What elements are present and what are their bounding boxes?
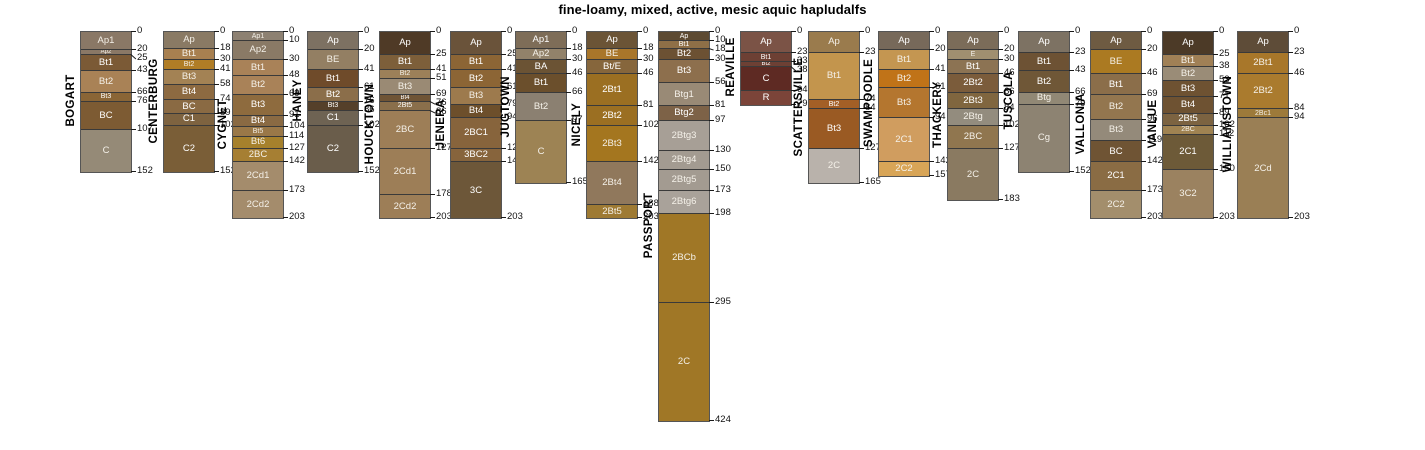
depth-tick bbox=[1288, 108, 1293, 109]
profile-name-williamstown: WILLIAMSTOWN bbox=[1221, 31, 1235, 217]
horizon-label: Ap1 bbox=[252, 33, 264, 40]
profile-name-houcktown: HOUCKTOWN bbox=[363, 31, 377, 217]
horizon-label: Bt2 bbox=[534, 102, 548, 112]
depth-tick bbox=[283, 161, 288, 162]
horizon-label: Ap bbox=[680, 33, 689, 40]
horizon-label: Ap bbox=[760, 37, 772, 47]
depth-tick bbox=[131, 70, 136, 71]
soil-profile-column[interactable]: ApBt1Bt2Bt3Bt42BC13BC23C bbox=[450, 31, 502, 219]
depth-label: 46 bbox=[1294, 68, 1305, 78]
depth-label: 203 bbox=[507, 212, 523, 222]
horizon[interactable]: Ap1 bbox=[516, 32, 566, 49]
horizon[interactable]: C bbox=[516, 121, 566, 183]
depth-tick bbox=[1288, 217, 1293, 218]
depth-tick bbox=[709, 420, 714, 421]
horizon-label: Bt2 bbox=[251, 80, 265, 90]
horizon-label: Bt4 bbox=[400, 95, 409, 101]
soil-profile-plot: BOGARTAp1Ap2Bt1Bt2Bt3BCC0202543667610715… bbox=[0, 0, 1425, 450]
horizon-label: 2BC bbox=[249, 150, 267, 160]
horizon[interactable]: Bt2 bbox=[451, 70, 501, 88]
horizon-label: 2C bbox=[678, 357, 690, 367]
horizon-label: Bt3 bbox=[101, 93, 112, 100]
horizon[interactable]: Bt1 bbox=[451, 55, 501, 70]
profile-name-thackery: THACKERY bbox=[931, 31, 945, 199]
depth-label: 43 bbox=[137, 65, 148, 75]
horizon-label: Ap bbox=[967, 36, 979, 46]
horizon-label: Bt4 bbox=[251, 116, 265, 126]
horizon-label: C1 bbox=[183, 114, 195, 124]
horizon[interactable]: BC bbox=[81, 102, 131, 130]
horizon[interactable]: Bt4 bbox=[233, 116, 283, 128]
horizon[interactable]: Bt3 bbox=[451, 88, 501, 105]
horizon-label: Bt3 bbox=[1109, 125, 1123, 135]
depth-label: 295 bbox=[715, 297, 731, 307]
horizon[interactable]: BE bbox=[587, 49, 637, 60]
depth-tick bbox=[1213, 54, 1218, 55]
horizon-label: 2Btg6 bbox=[672, 197, 697, 207]
horizon[interactable]: Bt1 bbox=[1019, 53, 1069, 71]
horizon[interactable]: C2 bbox=[308, 126, 358, 172]
horizon[interactable]: Ap1 bbox=[81, 32, 131, 50]
horizon[interactable]: BC bbox=[1091, 141, 1141, 162]
horizon[interactable]: Bt1 bbox=[948, 60, 998, 75]
horizon[interactable]: Ap bbox=[948, 32, 998, 50]
depth-tick bbox=[283, 75, 288, 76]
horizon[interactable]: Bt1 bbox=[879, 50, 929, 69]
horizon-label: 2Cd2 bbox=[247, 200, 270, 210]
horizon[interactable]: Bt2 bbox=[659, 49, 709, 60]
depth-label: 130 bbox=[715, 145, 731, 155]
soil-profile-column[interactable]: ApBt1Bt2Bt3Bt42Bt52BC2C13C2 bbox=[1162, 31, 1214, 219]
horizon-label: Bt1 bbox=[326, 74, 340, 84]
horizon[interactable]: 2Bt2 bbox=[1238, 74, 1288, 109]
horizon[interactable]: 2Cd2 bbox=[380, 195, 430, 218]
depth-label: 198 bbox=[715, 208, 731, 218]
horizon[interactable]: 2BC bbox=[380, 111, 430, 149]
horizon[interactable]: 2BCb bbox=[659, 214, 709, 303]
horizon-label: Bt3 bbox=[827, 124, 841, 134]
depth-tick bbox=[1288, 73, 1293, 74]
horizon[interactable]: 2Btg4 bbox=[659, 151, 709, 169]
horizon-label: Bt1 bbox=[398, 57, 412, 67]
depth-tick bbox=[131, 101, 136, 102]
profile-name-tuscola: TUSCOLA bbox=[1002, 31, 1016, 171]
horizon[interactable]: Ap bbox=[1238, 32, 1288, 53]
horizon-label: R bbox=[763, 93, 770, 103]
depth-tick bbox=[709, 105, 714, 106]
horizon[interactable]: Ap bbox=[380, 32, 430, 55]
horizon[interactable]: E bbox=[948, 50, 998, 59]
horizon-label: Bt2 bbox=[1037, 77, 1051, 87]
horizon[interactable]: 2Bt1 bbox=[1238, 53, 1288, 74]
horizon[interactable]: Bt/E bbox=[587, 60, 637, 75]
depth-tick bbox=[709, 190, 714, 191]
horizon-label: E bbox=[971, 51, 976, 58]
horizon[interactable]: Bt5 bbox=[233, 127, 283, 136]
depth-tick bbox=[709, 120, 714, 121]
horizon[interactable]: 2Bc1 bbox=[1238, 109, 1288, 118]
depth-tick bbox=[283, 190, 288, 191]
horizon[interactable]: Ap2 bbox=[233, 41, 283, 59]
depth-label: 97 bbox=[715, 115, 726, 125]
soil-profile-column[interactable]: ApBEBt/E2Bt12Bt22Bt32Bt42Bt5 bbox=[586, 31, 638, 219]
horizon[interactable]: 2C bbox=[659, 303, 709, 421]
horizon[interactable]: Bt3 bbox=[380, 79, 430, 96]
depth-tick bbox=[283, 115, 288, 116]
horizon[interactable]: 2Cd bbox=[1238, 118, 1288, 218]
depth-tick bbox=[1288, 117, 1293, 118]
depth-label: 173 bbox=[289, 185, 305, 195]
horizon-label: Bt2 bbox=[400, 70, 411, 77]
depth-tick bbox=[1213, 169, 1218, 170]
horizon-label: 2Btg3 bbox=[672, 131, 697, 141]
horizon-label: Ap bbox=[606, 35, 618, 45]
horizon-label: Bt4 bbox=[1181, 100, 1195, 110]
horizon[interactable]: Bt4 bbox=[1163, 97, 1213, 114]
horizon[interactable]: 2C bbox=[809, 149, 859, 184]
horizon-label: Bt3 bbox=[469, 91, 483, 101]
depth-tick bbox=[1213, 217, 1218, 218]
horizon[interactable]: 2Bt5 bbox=[587, 205, 637, 219]
horizon[interactable]: Btg bbox=[1019, 93, 1069, 105]
horizon-label: 2Bt5 bbox=[1178, 114, 1198, 124]
horizon-label: 3C2 bbox=[1179, 189, 1196, 199]
soil-profile-column[interactable]: ApBt1Bt2Bt32C12C2 bbox=[878, 31, 930, 177]
horizon-label: Bt4 bbox=[469, 106, 483, 116]
horizon-label: Bt3 bbox=[897, 98, 911, 108]
horizon[interactable]: Bt1 bbox=[81, 55, 131, 72]
horizon[interactable]: 2Bt3 bbox=[587, 126, 637, 163]
horizon[interactable]: BC bbox=[164, 100, 214, 114]
horizon-label: Ap bbox=[898, 36, 910, 46]
horizon[interactable]: Bt3 bbox=[1091, 120, 1141, 141]
horizon-label: 2C bbox=[967, 170, 979, 180]
horizon[interactable]: Bt2 bbox=[809, 100, 859, 109]
horizon-label: Bt2 bbox=[184, 61, 195, 68]
horizon[interactable]: 2Cd1 bbox=[380, 149, 430, 196]
horizon-label: 2Btg bbox=[963, 112, 983, 122]
horizon[interactable]: Bt2 bbox=[516, 93, 566, 121]
horizon[interactable]: 2BC bbox=[948, 126, 998, 149]
horizon[interactable]: Ap bbox=[879, 32, 929, 50]
depth-tick bbox=[501, 217, 506, 218]
horizon[interactable]: Bt1 bbox=[516, 74, 566, 92]
horizon[interactable]: Bt1 bbox=[1091, 74, 1141, 95]
depth-tick bbox=[283, 59, 288, 60]
horizon[interactable]: Ap bbox=[164, 32, 214, 49]
profile-name-vanlue: VANLUE bbox=[1146, 31, 1160, 217]
horizon-label: Bt3 bbox=[677, 66, 691, 76]
horizon[interactable]: Bt4 bbox=[451, 105, 501, 119]
depth-tick bbox=[709, 59, 714, 60]
horizon-label: Bt2 bbox=[897, 74, 911, 84]
horizon[interactable]: Bt1 bbox=[1163, 55, 1213, 67]
horizon[interactable]: 2Btg5 bbox=[659, 170, 709, 191]
horizon[interactable]: Bt1 bbox=[308, 70, 358, 88]
profile-name-passport: PASSPORT bbox=[642, 31, 656, 420]
horizon[interactable]: 2Bt3 bbox=[948, 93, 998, 110]
horizon-label: 2Cd2 bbox=[394, 202, 417, 212]
horizon[interactable]: Ap bbox=[659, 32, 709, 41]
horizon[interactable]: 2C2 bbox=[879, 162, 929, 176]
depth-tick bbox=[131, 31, 136, 32]
horizon[interactable]: C1 bbox=[308, 111, 358, 126]
horizon-label: Bt/E bbox=[603, 62, 621, 72]
horizon[interactable]: 2Cd1 bbox=[233, 162, 283, 190]
profile-name-cygnet: CYGNET bbox=[216, 31, 230, 217]
depth-tick bbox=[131, 92, 136, 93]
soil-profile-column[interactable]: ApBt1Bt2CR bbox=[740, 31, 792, 106]
horizon[interactable]: Bt2 bbox=[233, 76, 283, 95]
horizon-label: Bt3 bbox=[328, 102, 339, 109]
depth-tick bbox=[709, 40, 714, 41]
horizon[interactable]: 2Bt5 bbox=[1163, 114, 1213, 126]
horizon-label: Bt6 bbox=[251, 137, 265, 147]
horizon-label: Bt1 bbox=[99, 58, 113, 68]
horizon[interactable]: BE bbox=[1091, 50, 1141, 74]
horizon-label: BE bbox=[327, 55, 340, 65]
depth-tick bbox=[709, 213, 714, 214]
soil-profile-column[interactable]: ApBt1Bt2Bt32C bbox=[808, 31, 860, 184]
horizon[interactable]: Bt3 bbox=[81, 93, 131, 102]
depth-label: 424 bbox=[715, 415, 731, 425]
depth-tick bbox=[1213, 113, 1218, 114]
horizon[interactable]: 2C1 bbox=[1091, 162, 1141, 190]
profile-name-jugtown: JUGTOWN bbox=[499, 31, 513, 182]
horizon-label: 2BC bbox=[1181, 126, 1195, 133]
horizon[interactable]: 2Bt4 bbox=[587, 162, 637, 204]
depth-label: 165 bbox=[865, 177, 881, 187]
horizon-label: Ap2 bbox=[533, 49, 550, 59]
horizon-label: 2Bc1 bbox=[1255, 110, 1271, 117]
horizon-label: Ap bbox=[327, 36, 339, 46]
horizon[interactable]: BE bbox=[308, 50, 358, 69]
depth-label: 76 bbox=[137, 96, 148, 106]
horizon[interactable]: Bt3 bbox=[233, 95, 283, 115]
horizon[interactable]: Bt2 bbox=[1019, 71, 1069, 92]
horizon-label: 2Bt2 bbox=[602, 111, 622, 121]
soil-profile-column[interactable]: ApBt1Bt2BtgCg bbox=[1018, 31, 1070, 173]
soil-profile-column[interactable]: ApBt1Bt2Bt3Btg1Btg22Btg32Btg42Btg52Btg62… bbox=[658, 31, 710, 422]
depth-tick bbox=[709, 150, 714, 151]
horizon-label: Bt1 bbox=[182, 49, 196, 59]
horizon-label: BE bbox=[1110, 57, 1123, 67]
horizon[interactable]: Ap2 bbox=[516, 49, 566, 60]
horizon-label: 2Bt3 bbox=[963, 96, 983, 106]
horizon-label: 2Bt5 bbox=[602, 207, 622, 217]
horizon[interactable]: Bt3 bbox=[659, 60, 709, 84]
horizon[interactable]: 2Cd2 bbox=[233, 191, 283, 219]
horizon-label: 2Cd1 bbox=[247, 171, 270, 181]
horizon[interactable]: Ap bbox=[741, 32, 791, 53]
horizon[interactable]: Bt6 bbox=[233, 137, 283, 149]
depth-tick bbox=[283, 94, 288, 95]
depth-label: 203 bbox=[289, 212, 305, 222]
depth-tick bbox=[283, 31, 288, 32]
horizon[interactable]: C2 bbox=[164, 126, 214, 172]
horizon[interactable]: Btg1 bbox=[659, 83, 709, 106]
soil-profile-column[interactable]: Ap1Ap2Bt1Bt2Bt3BCC bbox=[80, 31, 132, 173]
horizon[interactable]: Bt3 bbox=[308, 102, 358, 111]
horizon[interactable]: 2C2 bbox=[1091, 191, 1141, 219]
horizon[interactable]: Bt2 bbox=[1091, 95, 1141, 120]
horizon-label: Ap1 bbox=[533, 35, 550, 45]
horizon[interactable]: Bt1 bbox=[809, 53, 859, 100]
horizon-label: Bt3 bbox=[251, 100, 265, 110]
horizon[interactable]: C bbox=[741, 67, 791, 91]
horizon-label: Bt2 bbox=[99, 77, 113, 87]
horizon[interactable]: 2Btg6 bbox=[659, 191, 709, 214]
horizon[interactable]: Ap bbox=[308, 32, 358, 50]
horizon-label: Bt2 bbox=[1181, 69, 1195, 79]
horizon[interactable]: 2Bt1 bbox=[587, 74, 637, 106]
horizon[interactable]: 2Btg3 bbox=[659, 121, 709, 151]
horizon[interactable]: Bt1 bbox=[380, 55, 430, 70]
horizon-label: 2Btg4 bbox=[672, 155, 697, 165]
horizon-label: Bt1 bbox=[251, 63, 265, 73]
horizon-label: Bt3 bbox=[182, 72, 196, 82]
horizon-label: 2Bt5 bbox=[398, 102, 412, 109]
horizon[interactable]: Cg bbox=[1019, 105, 1069, 172]
horizon-label: Bt2 bbox=[829, 101, 840, 108]
horizon[interactable]: C bbox=[81, 130, 131, 171]
depth-tick bbox=[283, 148, 288, 149]
horizon[interactable]: Btg2 bbox=[659, 106, 709, 121]
horizon-label: Ap bbox=[1182, 38, 1194, 48]
horizon[interactable]: 2C1 bbox=[879, 118, 929, 162]
soil-profile-column[interactable]: ApEBt12Bt22Bt32Btg2BC2C bbox=[947, 31, 999, 201]
horizon[interactable]: Bt1 bbox=[233, 60, 283, 77]
horizon[interactable]: Bt2 bbox=[164, 60, 214, 70]
depth-tick bbox=[1213, 96, 1218, 97]
horizon[interactable]: Bt1 bbox=[164, 49, 214, 60]
horizon[interactable]: Bt2 bbox=[879, 70, 929, 88]
soil-profile-column[interactable]: ApBEBt1Bt2Bt3C1C2 bbox=[307, 31, 359, 173]
horizon-label: Cg bbox=[1038, 133, 1050, 143]
horizon[interactable]: BA bbox=[516, 60, 566, 75]
depth-tick bbox=[709, 169, 714, 170]
horizon[interactable]: Bt3 bbox=[879, 88, 929, 118]
horizon[interactable]: 2Bt5 bbox=[380, 102, 430, 111]
horizon[interactable]: Bt2 bbox=[81, 71, 131, 92]
horizon[interactable]: R bbox=[741, 91, 791, 105]
horizon[interactable]: Ap bbox=[587, 32, 637, 49]
depth-label: 25 bbox=[137, 53, 148, 63]
horizon-label: 3BC2 bbox=[464, 150, 488, 160]
horizon[interactable]: 2C1 bbox=[1163, 135, 1213, 170]
horizon-label: Btg1 bbox=[674, 90, 694, 100]
horizon-label: Bt1 bbox=[897, 55, 911, 65]
horizon-label: BC bbox=[182, 102, 195, 112]
horizon-label: Bt1 bbox=[1181, 56, 1195, 66]
horizon[interactable]: 2Btg bbox=[948, 109, 998, 126]
horizon-label: Bt1 bbox=[1109, 80, 1123, 90]
horizon[interactable]: Bt2 bbox=[308, 88, 358, 102]
horizon[interactable]: C1 bbox=[164, 114, 214, 126]
horizon[interactable]: Ap1 bbox=[233, 32, 283, 41]
horizon-label: Bt1 bbox=[469, 57, 483, 67]
horizon-label: 2C1 bbox=[1107, 171, 1124, 181]
horizon[interactable]: Bt3 bbox=[1163, 81, 1213, 98]
horizon-label: Bt1 bbox=[534, 78, 548, 88]
depth-tick bbox=[1213, 31, 1218, 32]
horizon-label: 2C2 bbox=[1107, 200, 1124, 210]
horizon-label: 2Cd1 bbox=[394, 167, 417, 177]
depth-label: 0 bbox=[1294, 26, 1299, 36]
horizon-label: 2Bt2 bbox=[1253, 86, 1273, 96]
horizon-label: BA bbox=[535, 62, 548, 72]
soil-profile-column[interactable]: ApBEBt1Bt2Bt3BC2C12C2 bbox=[1090, 31, 1142, 219]
horizon[interactable]: Bt3 bbox=[809, 109, 859, 148]
profile-name-vallonia: VALLONIA bbox=[1074, 31, 1088, 217]
horizon-label: Ap bbox=[183, 35, 195, 45]
depth-tick bbox=[131, 129, 136, 130]
soil-profile-column[interactable]: Ap1Ap2BABt1Bt2C bbox=[515, 31, 567, 184]
horizon[interactable]: Bt2 bbox=[1163, 67, 1213, 81]
depth-label: 150 bbox=[715, 164, 731, 174]
horizon[interactable]: Ap bbox=[1163, 32, 1213, 55]
horizon[interactable]: 2BC1 bbox=[451, 118, 501, 148]
horizon-label: Bt1 bbox=[827, 71, 841, 81]
horizon[interactable]: 3C2 bbox=[1163, 170, 1213, 219]
horizon-label: C2 bbox=[183, 144, 195, 154]
depth-tick bbox=[1213, 66, 1218, 67]
horizon-label: BE bbox=[606, 49, 619, 59]
horizon[interactable]: Bt4 bbox=[164, 85, 214, 100]
horizon-label: Bt3 bbox=[398, 82, 412, 92]
depth-tick bbox=[1213, 125, 1218, 126]
depth-label: 0 bbox=[137, 26, 142, 36]
horizon[interactable]: Bt3 bbox=[164, 70, 214, 86]
horizon[interactable]: Bt1 bbox=[659, 41, 709, 48]
soil-profile-column[interactable]: ApBt1Bt2Bt3Bt4BCC1C2 bbox=[163, 31, 215, 173]
horizon[interactable]: Bt2 bbox=[380, 70, 430, 79]
horizon-label: Ap bbox=[399, 38, 411, 48]
horizon[interactable]: 2Bt2 bbox=[948, 74, 998, 92]
horizon[interactable]: Ap bbox=[1019, 32, 1069, 53]
horizon[interactable]: Ap bbox=[1091, 32, 1141, 50]
depth-tick bbox=[1288, 31, 1293, 32]
horizon-label: Bt2 bbox=[469, 74, 483, 84]
depth-label: 173 bbox=[715, 185, 731, 195]
horizon-label: Ap2 bbox=[250, 45, 267, 55]
horizon-label: C2 bbox=[327, 144, 339, 154]
horizon[interactable]: 3BC2 bbox=[451, 149, 501, 163]
soil-profile-column[interactable]: Ap2Bt12Bt22Bc12Cd bbox=[1237, 31, 1289, 219]
horizon[interactable]: Ap bbox=[451, 32, 501, 55]
soil-profile-column[interactable]: ApBt1Bt2Bt3Bt42Bt52BC2Cd12Cd2 bbox=[379, 31, 431, 219]
profile-name-swampoodle: SWAMPOODLE bbox=[862, 31, 876, 175]
depth-tick bbox=[859, 182, 864, 183]
horizon[interactable]: 2BC bbox=[233, 149, 283, 163]
depth-tick bbox=[998, 199, 1003, 200]
horizon[interactable]: Ap bbox=[809, 32, 859, 53]
depth-tick bbox=[131, 49, 136, 50]
horizon[interactable]: 2C bbox=[948, 149, 998, 200]
horizon[interactable]: 2BC bbox=[1163, 126, 1213, 135]
depth-tick bbox=[283, 217, 288, 218]
profile-name-centerburg: CENTERBURG bbox=[147, 31, 161, 171]
depth-tick bbox=[709, 82, 714, 83]
horizon[interactable]: 2Bt2 bbox=[587, 106, 637, 125]
horizon-label: Bt1 bbox=[1037, 57, 1051, 67]
soil-profile-column[interactable]: Ap1Ap2Bt1Bt2Bt3Bt4Bt5Bt62BC2Cd12Cd2 bbox=[232, 31, 284, 219]
horizon[interactable]: Bt1 bbox=[741, 53, 791, 62]
horizon-label: 2BC bbox=[964, 132, 982, 142]
horizon[interactable]: 3C bbox=[451, 162, 501, 218]
horizon-label: Bt5 bbox=[253, 128, 264, 135]
depth-tick bbox=[1213, 134, 1218, 135]
